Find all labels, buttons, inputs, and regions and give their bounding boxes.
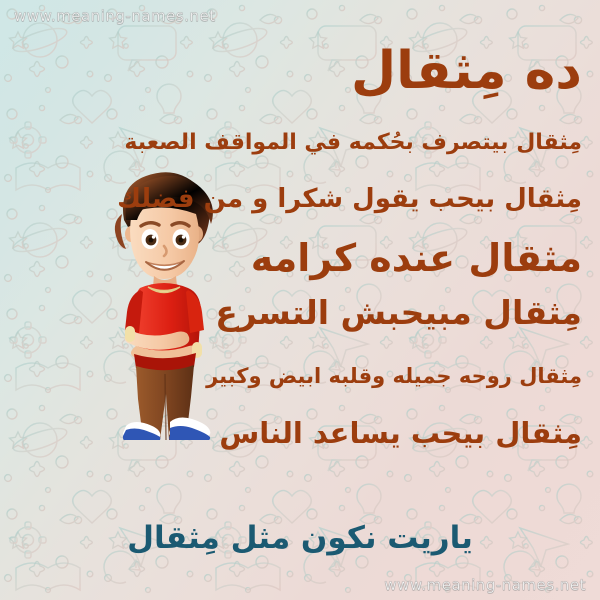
closing-statement: ياريت نكون مثل مِثقال bbox=[0, 520, 600, 556]
trait-line-2: مِثقال بيحب يقول شكرا و من فضلك bbox=[22, 186, 582, 213]
trait-line-1: مِثقال بيتصرف بحُكمه في المواقف الصعبة bbox=[22, 131, 582, 154]
trait-text: مثقال عنده كرامه bbox=[251, 236, 582, 280]
name-meaning-card: www.meaning-names.net www.meaning-names.… bbox=[0, 0, 600, 600]
closing-text: ياريت نكون مثل مِثقال bbox=[127, 520, 473, 556]
trait-text: مِثقال بيتصرف بحُكمه في المواقف الصعبة bbox=[124, 130, 582, 155]
trait-line-5: مِثقال روحه جميله وقلبه ابيض وكبير bbox=[22, 365, 582, 387]
trait-text: مِثقال بيحب يقول شكرا و من فضلك bbox=[117, 184, 582, 214]
page-title: ده مِثقال bbox=[22, 44, 582, 99]
trait-line-6: مِثقال بيحب يساعد الناس bbox=[22, 418, 582, 448]
trait-line-3: مثقال عنده كرامه bbox=[22, 239, 582, 279]
page-title-text: ده مِثقال bbox=[351, 41, 582, 101]
trait-text: مِثقال بيحب يساعد الناس bbox=[219, 416, 582, 450]
trait-text: مِثقال روحه جميله وقلبه ابيض وكبير bbox=[206, 364, 582, 388]
text-column: ده مِثقال مِثقال بيتصرف بحُكمه في المواق… bbox=[22, 0, 582, 600]
trait-text: مِثقال مبيحبش التسرع bbox=[215, 293, 582, 332]
trait-line-4: مِثقال مبيحبش التسرع bbox=[22, 296, 582, 331]
